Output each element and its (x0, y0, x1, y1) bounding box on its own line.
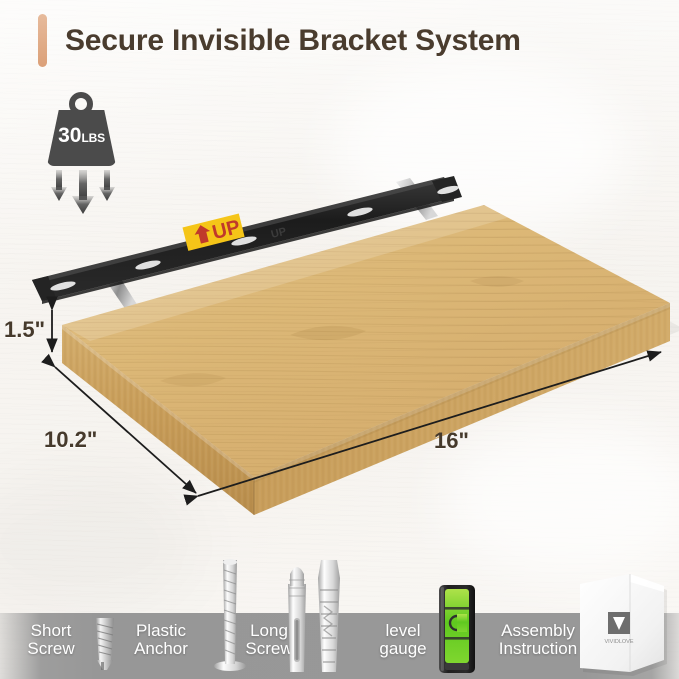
accessory-label-short-screw: Short Screw (12, 622, 90, 658)
accessory-label-level-gauge: level gauge (358, 622, 448, 658)
level-gauge-icon (436, 585, 478, 673)
plastic-anchor-icon (212, 556, 248, 676)
manual-brand-text: VIVIDLOVE (604, 639, 633, 645)
assembly-instruction-manual-icon: VIVIDLOVE (572, 572, 672, 676)
accessory-label-plastic-anchor: Plastic Anchor (108, 622, 214, 658)
dimension-thickness-label: 1.5" (4, 317, 45, 343)
product-infographic: Secure Invisible Bracket System 30LBS (0, 0, 679, 679)
dimension-width-label: 16" (434, 428, 469, 454)
long-screw-anchors-icon (282, 556, 346, 676)
dimension-depth-label: 10.2" (44, 427, 97, 453)
dimension-width-line (198, 352, 661, 496)
